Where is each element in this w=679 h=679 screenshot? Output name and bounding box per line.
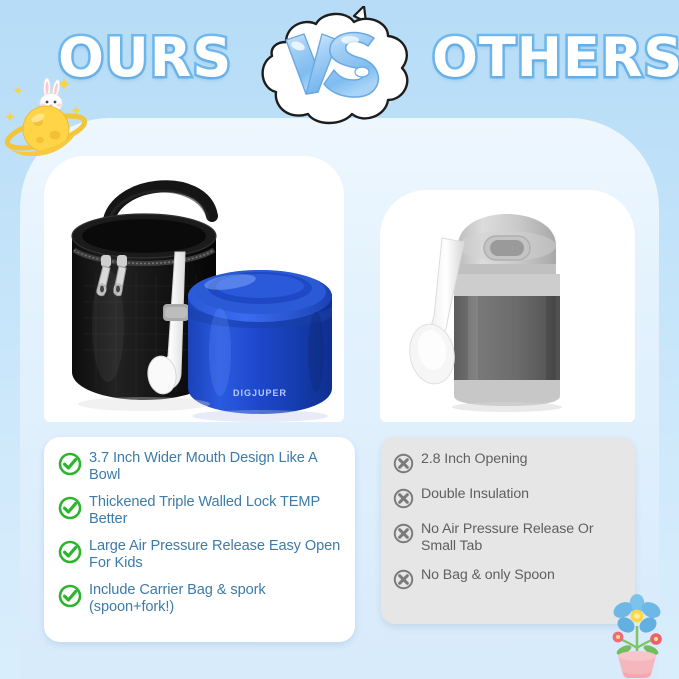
header: OURS OTHERS [0,0,679,118]
list-item: No Bag & only Spoon [393,567,627,590]
black-bag-blue-jar-spork-illustration: DIGJUPER [44,156,344,422]
list-item-label: Large Air Pressure Release Easy Open For… [89,538,345,572]
list-item-label: No Air Pressure Release Or Small Tab [421,521,627,555]
check-circle-icon [58,584,82,608]
list-item-label: Include Carrier Bag & spork (spoon+fork!… [89,582,345,616]
check-circle-icon [58,452,82,476]
infographic-stage: OURS OTHERS [0,0,679,679]
list-item-label: Thickened Triple Walled Lock TEMP Better [89,494,345,528]
bunny-planet-sticker [2,72,92,156]
vs-cloud-badge [246,6,422,134]
product-brand-label: DIGJUPER [233,388,287,398]
list-item: Thickened Triple Walled Lock TEMP Better [58,494,345,528]
gray-jar-spoon-illustration [380,190,635,422]
others-title: OTHERS [432,26,679,89]
ours-feature-list: 3.7 Inch Wider Mouth Design Like A Bowl … [44,437,355,636]
x-circle-icon [393,569,414,590]
list-item: Double Insulation [393,486,627,509]
others-product-image [380,190,635,422]
check-circle-icon [58,540,82,564]
list-item-label: No Bag & only Spoon [421,567,555,584]
list-item: No Air Pressure Release Or Small Tab [393,521,627,555]
list-item: Include Carrier Bag & spork (spoon+fork!… [58,582,345,616]
ours-product-image: DIGJUPER [44,156,344,422]
bunny-on-planet-icon [2,72,92,156]
x-circle-icon [393,523,414,544]
list-item-label: 3.7 Inch Wider Mouth Design Like A Bowl [89,450,345,484]
ours-feature-card: 3.7 Inch Wider Mouth Design Like A Bowl … [44,437,355,642]
list-item-label: Double Insulation [421,486,529,503]
vs-cloud-icon [246,6,422,134]
flower-pot-sticker [596,586,678,678]
blue-daisy-in-pot-icon [596,586,678,678]
others-feature-list: 2.8 Inch Opening Double Insulation [381,437,635,610]
check-circle-icon [58,496,82,520]
list-item-label: 2.8 Inch Opening [421,451,527,468]
list-item: 3.7 Inch Wider Mouth Design Like A Bowl [58,450,345,484]
x-circle-icon [393,488,414,509]
x-circle-icon [393,453,414,474]
list-item: 2.8 Inch Opening [393,451,627,474]
list-item: Large Air Pressure Release Easy Open For… [58,538,345,572]
